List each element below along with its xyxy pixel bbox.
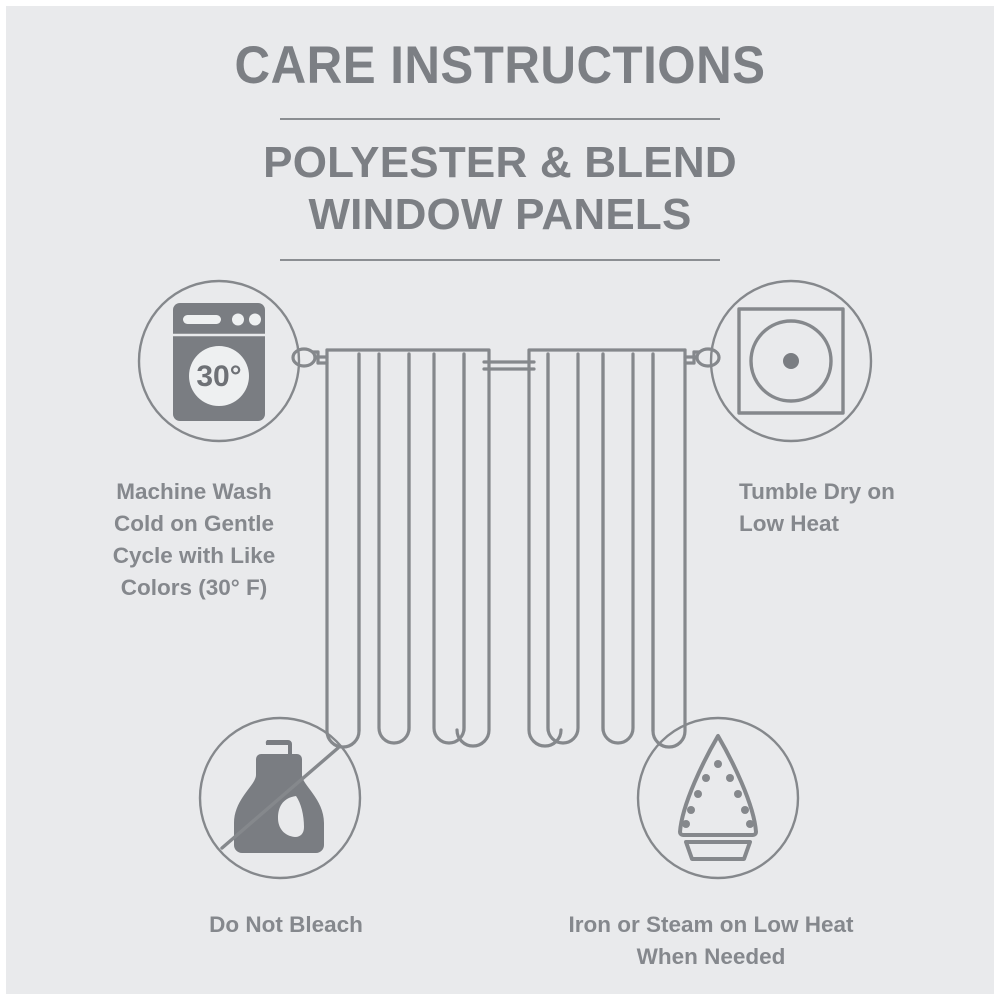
curtain-right-panel: [529, 350, 685, 747]
symbol-iron: [636, 716, 800, 880]
caption-wash: Machine Wash Cold on Gentle Cycle with L…: [69, 476, 319, 604]
subtitle-line-1: POLYESTER & BLEND: [6, 137, 994, 189]
care-instructions-card: CARE INSTRUCTIONS POLYESTER & BLEND WIND…: [0, 0, 1000, 1000]
curtain-rod: [484, 362, 534, 369]
tumble-dry-icon: [739, 309, 843, 413]
page-subtitle: POLYESTER & BLEND WINDOW PANELS: [6, 137, 994, 241]
divider-bottom: [280, 259, 720, 261]
curtain-left-panel: [327, 350, 489, 747]
caption-dry: Tumble Dry on Low Heat: [739, 476, 999, 540]
infographic-stage: CARE INSTRUCTIONS POLYESTER & BLEND WIND…: [6, 6, 994, 994]
iron-icon: [680, 736, 756, 859]
subtitle-line-2: WINDOW PANELS: [6, 189, 994, 241]
page-title: CARE INSTRUCTIONS: [41, 38, 960, 94]
wash-temperature-label: 30°: [196, 360, 241, 393]
symbol-dry: [709, 279, 873, 443]
symbol-wash: 30°: [137, 279, 301, 443]
bleach-bottle-icon: [234, 740, 324, 853]
caption-bleach: Do Not Bleach: [171, 909, 401, 941]
divider-top: [280, 118, 720, 120]
badge-circle-iron: [638, 718, 798, 878]
steam-vent-dots: [682, 760, 754, 828]
symbol-bleach: [198, 716, 362, 880]
caption-iron: Iron or Steam on Low Heat When Needed: [526, 909, 896, 973]
washing-machine-icon: 30°: [173, 303, 265, 421]
